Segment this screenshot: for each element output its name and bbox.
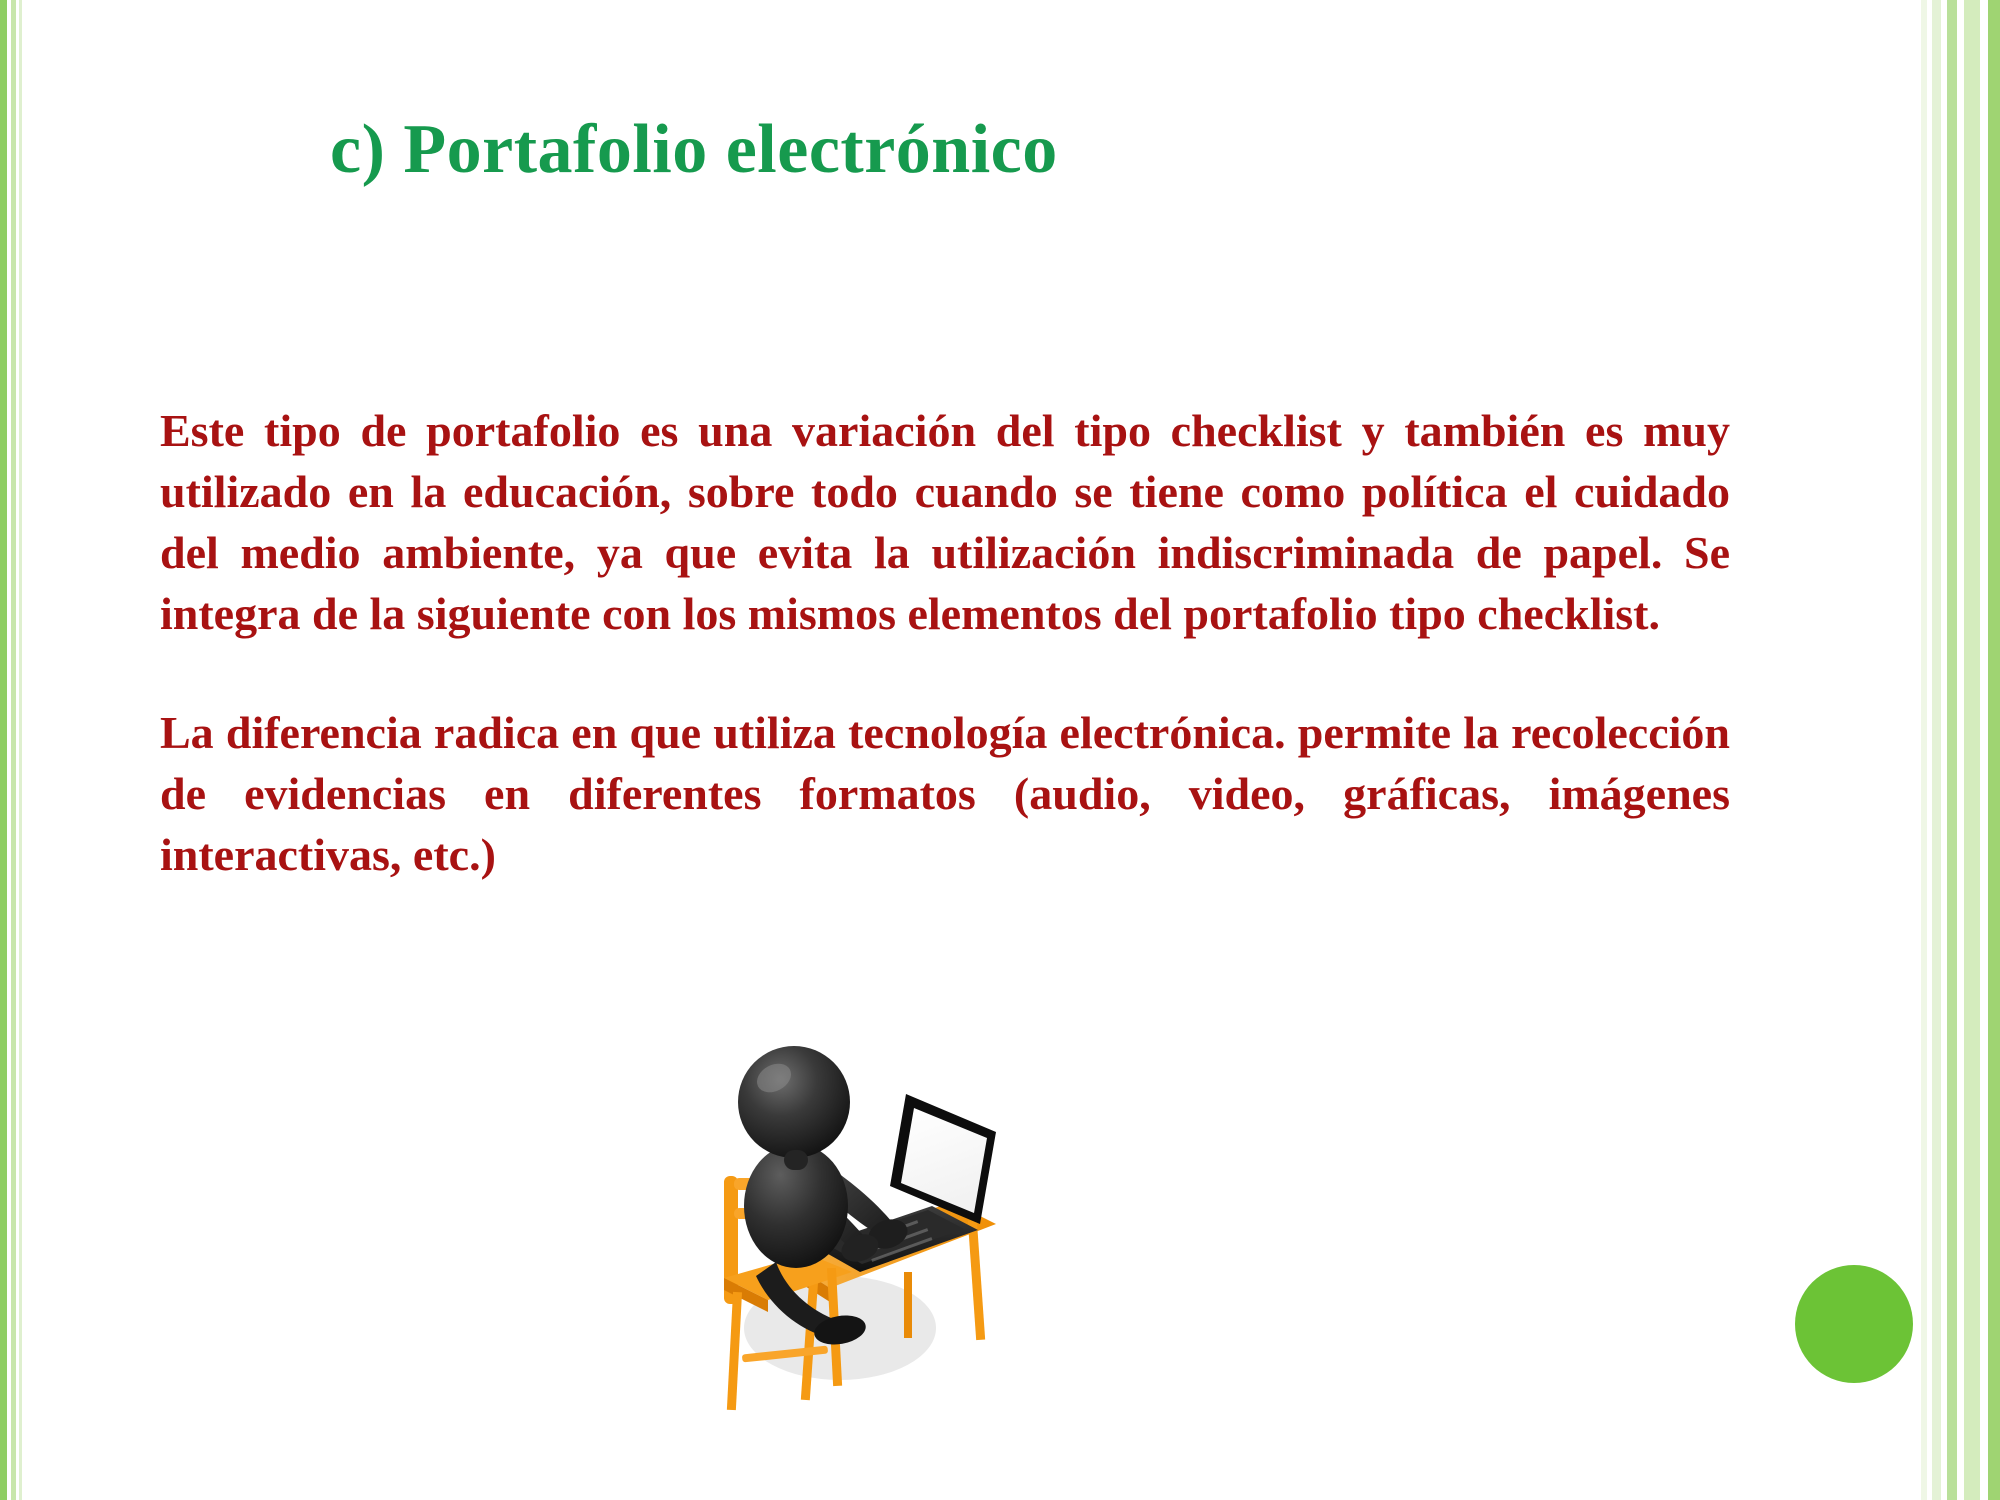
person-at-desk-with-laptop-image [690, 1010, 1020, 1430]
green-accent-circle [1795, 1265, 1913, 1383]
right-stripe-8 [1927, 0, 1932, 1500]
desk-leg-back [904, 1272, 912, 1338]
right-stripe-4 [1957, 0, 1964, 1500]
right-stripe-1 [1988, 0, 2000, 1500]
right-stripe-6 [1941, 0, 1947, 1500]
right-stripe-7 [1932, 0, 1941, 1500]
right-stripe-5 [1947, 0, 1957, 1500]
left-green-stripes [0, 0, 26, 1500]
clipart-svg [690, 1010, 1020, 1430]
right-stripe-9 [1921, 0, 1927, 1500]
presentation-slide: c) Portafolio electrónico Este tipo de p… [0, 0, 2000, 1500]
body-paragraph-2: La diferencia radica en que utiliza tecn… [160, 702, 1730, 885]
figure-head [738, 1046, 850, 1158]
left-stripe-1 [0, 0, 7, 1500]
right-green-stripes [1910, 0, 2000, 1500]
slide-body: Este tipo de portafolio es una variación… [160, 400, 1730, 885]
left-stripe-5 [19, 0, 22, 1500]
chair-leg-front [727, 1292, 742, 1410]
right-stripe-2 [1980, 0, 1988, 1500]
body-paragraph-1: Este tipo de portafolio es una variación… [160, 400, 1730, 644]
desk-leg-right [968, 1220, 985, 1340]
right-stripe-3 [1964, 0, 1980, 1500]
figure-neck [784, 1150, 808, 1170]
slide-title: c) Portafolio electrónico [330, 110, 1530, 190]
